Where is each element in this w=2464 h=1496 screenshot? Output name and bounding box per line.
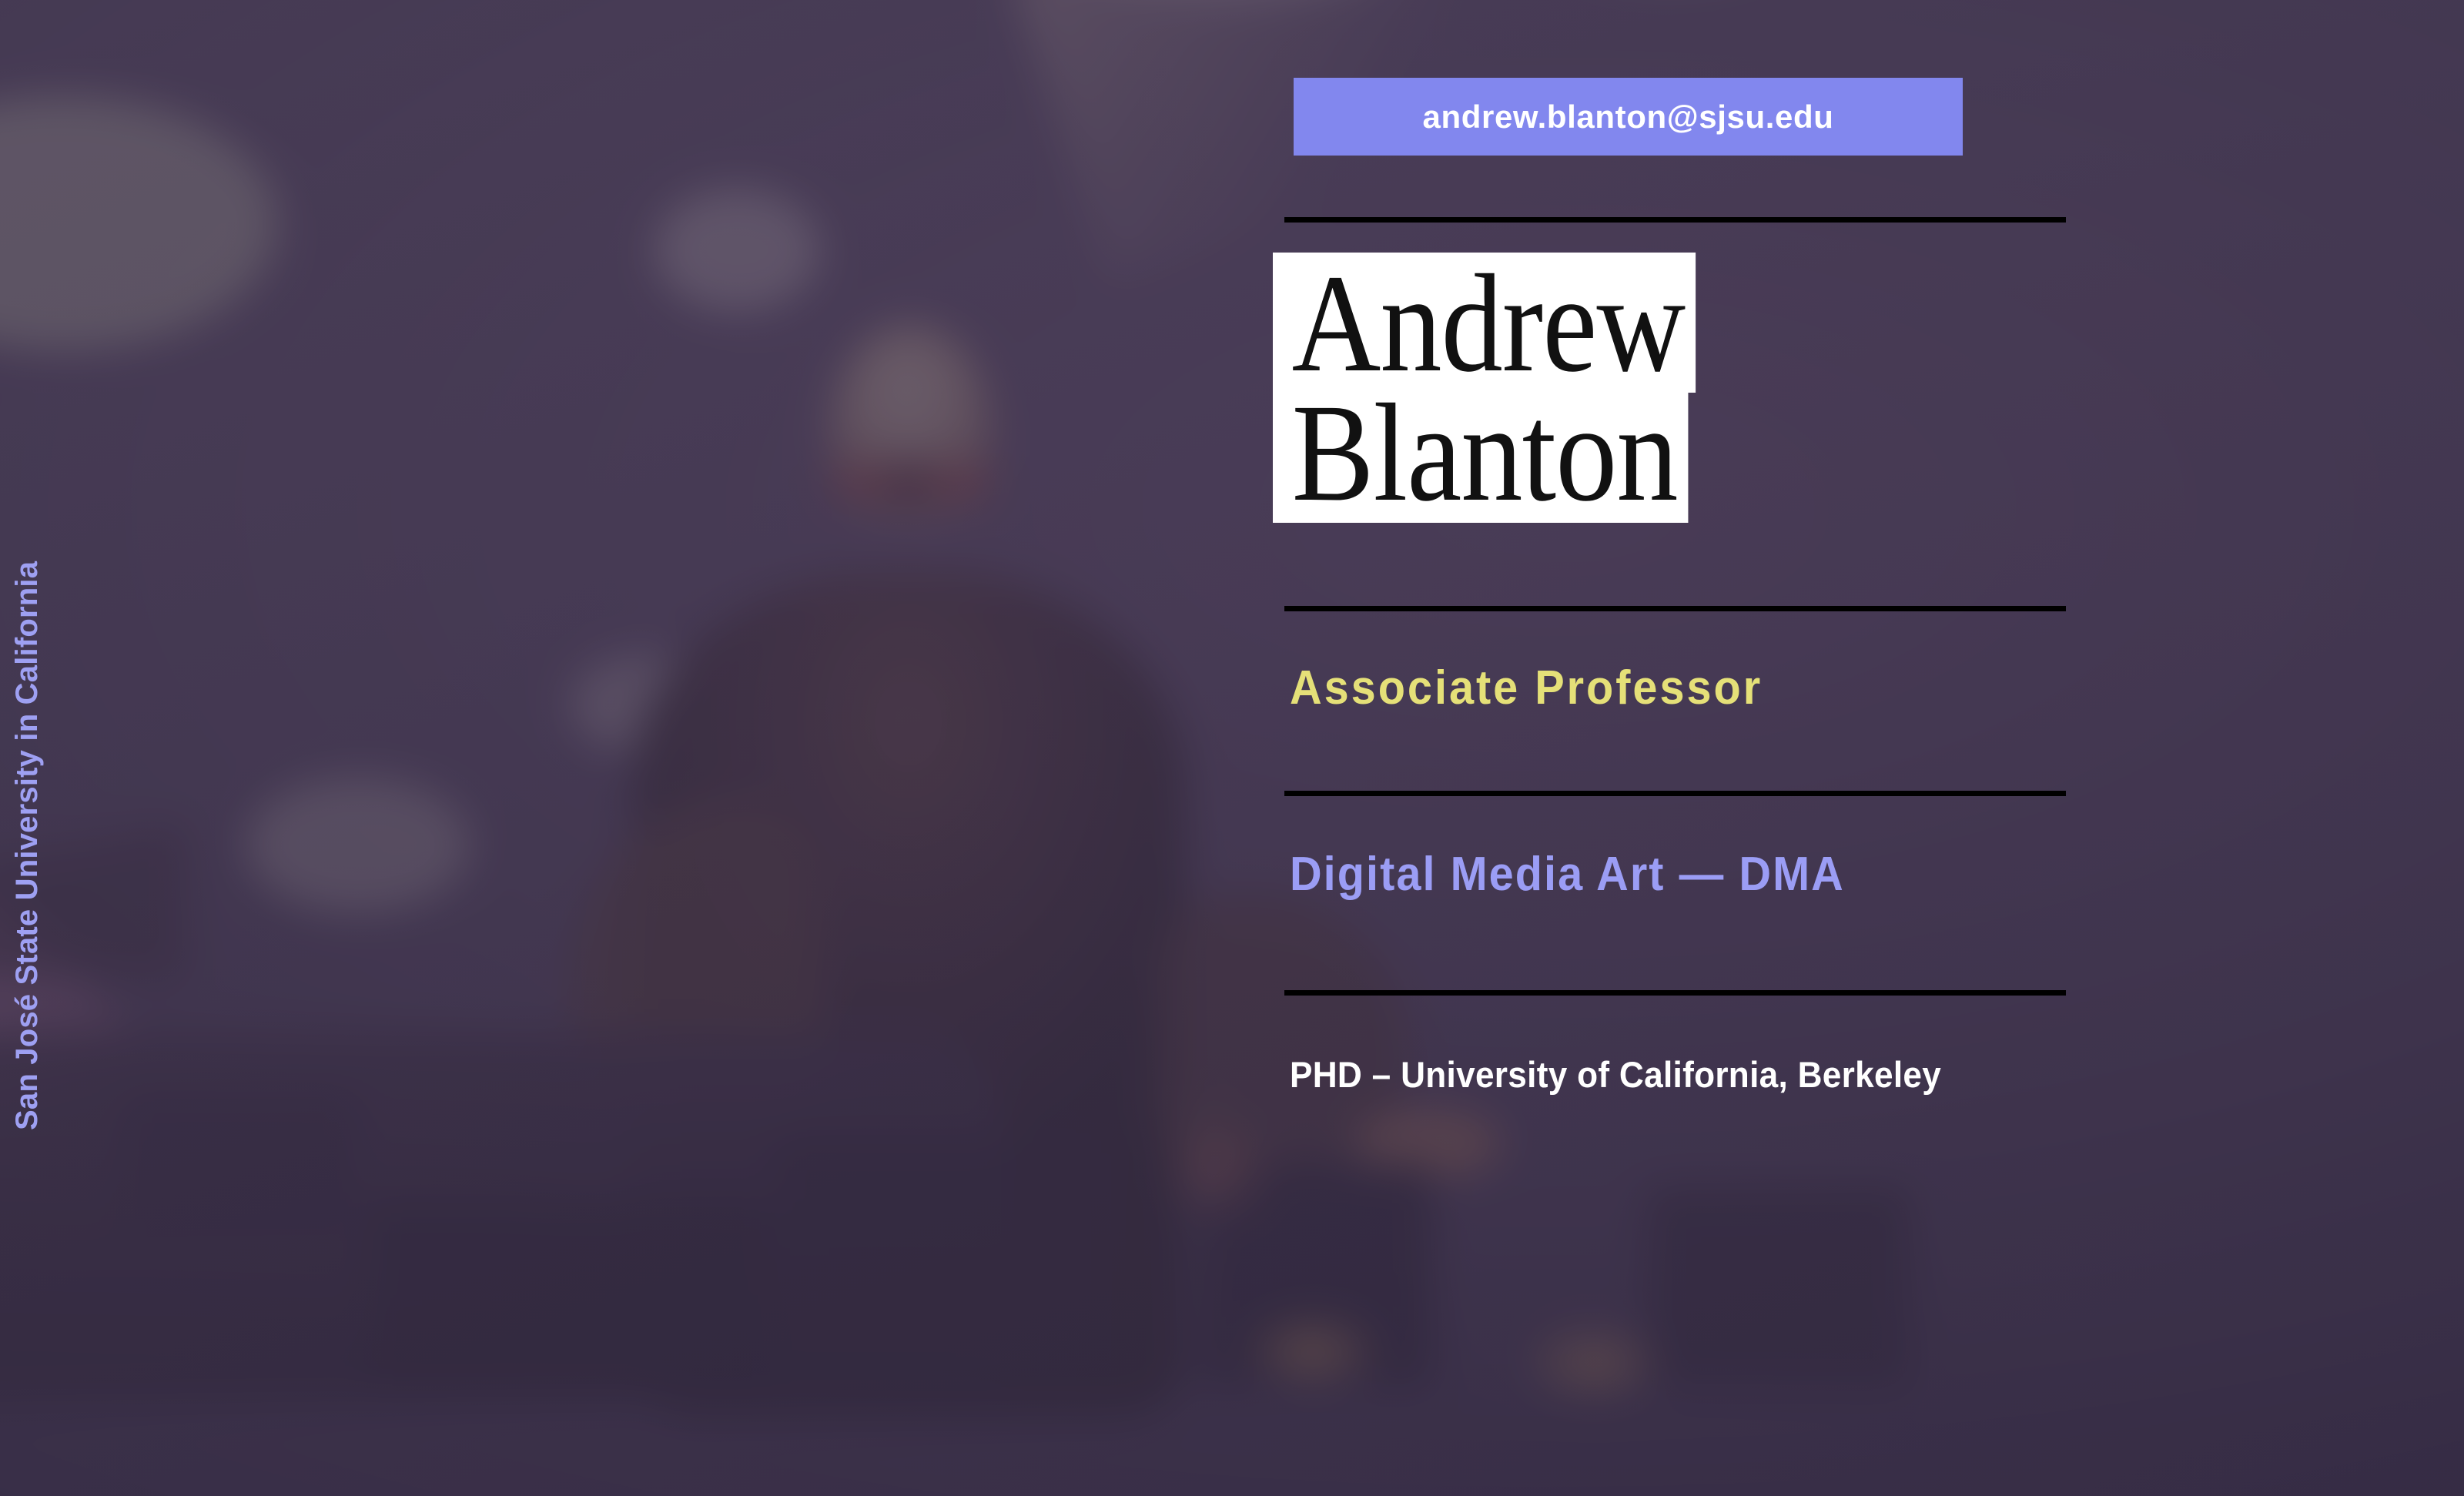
email-address: andrew.blanton@sjsu.edu bbox=[1423, 99, 1834, 136]
email-badge[interactable]: andrew.blanton@sjsu.edu bbox=[1294, 78, 1963, 156]
purple-gradient-overlay bbox=[0, 0, 2464, 1496]
first-name: Andrew bbox=[1273, 253, 1696, 393]
person-name: Andrew Blanton bbox=[1273, 253, 2066, 523]
divider-rule-2 bbox=[1284, 606, 2066, 611]
job-title: Associate Professor bbox=[1290, 661, 1763, 715]
department-name: Digital Media Art — DMA bbox=[1290, 847, 1845, 902]
content-column: andrew.blanton@sjsu.edu Andrew Blanton A… bbox=[1273, 0, 2066, 1496]
degree-credential: PHD – University of California, Berkeley bbox=[1290, 1053, 1941, 1096]
divider-rule-1 bbox=[1284, 217, 2066, 223]
background-photo bbox=[0, 0, 2464, 1496]
divider-rule-3 bbox=[1284, 791, 2066, 796]
title-slide: San José State University in California … bbox=[0, 0, 2464, 1496]
divider-rule-4 bbox=[1284, 990, 2066, 996]
last-name: Blanton bbox=[1273, 382, 1689, 522]
